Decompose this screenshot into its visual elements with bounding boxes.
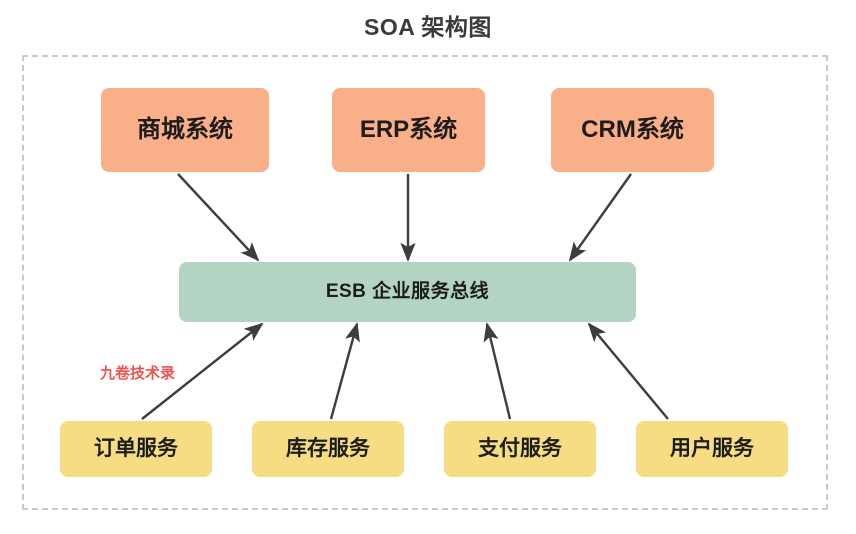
node-label: 商城系统: [137, 116, 233, 145]
node-crm-system[interactable]: CRM系统: [551, 88, 714, 172]
node-order-service[interactable]: 订单服务: [60, 421, 212, 477]
node-esb-bus[interactable]: ESB 企业服务总线: [179, 262, 636, 322]
node-user-service[interactable]: 用户服务: [636, 421, 788, 477]
node-label: ERP系统: [360, 116, 457, 145]
node-label: 订单服务: [94, 436, 178, 461]
node-label: 库存服务: [286, 436, 370, 461]
node-label: CRM系统: [581, 116, 684, 145]
node-label: ESB 企业服务总线: [326, 281, 489, 304]
watermark-label: 九卷技术录: [100, 362, 175, 383]
node-mall-system[interactable]: 商城系统: [101, 88, 269, 172]
page-title: SOA 架构图: [0, 8, 856, 42]
soa-architecture-diagram: SOA 架构图 商城系统ERP系统CRM系统ESB 企业服务总线订单服务库存服务…: [0, 0, 856, 534]
node-inventory-service[interactable]: 库存服务: [252, 421, 404, 477]
node-erp-system[interactable]: ERP系统: [332, 88, 485, 172]
node-label: 用户服务: [670, 436, 754, 461]
node-payment-service[interactable]: 支付服务: [444, 421, 596, 477]
node-label: 支付服务: [478, 436, 562, 461]
